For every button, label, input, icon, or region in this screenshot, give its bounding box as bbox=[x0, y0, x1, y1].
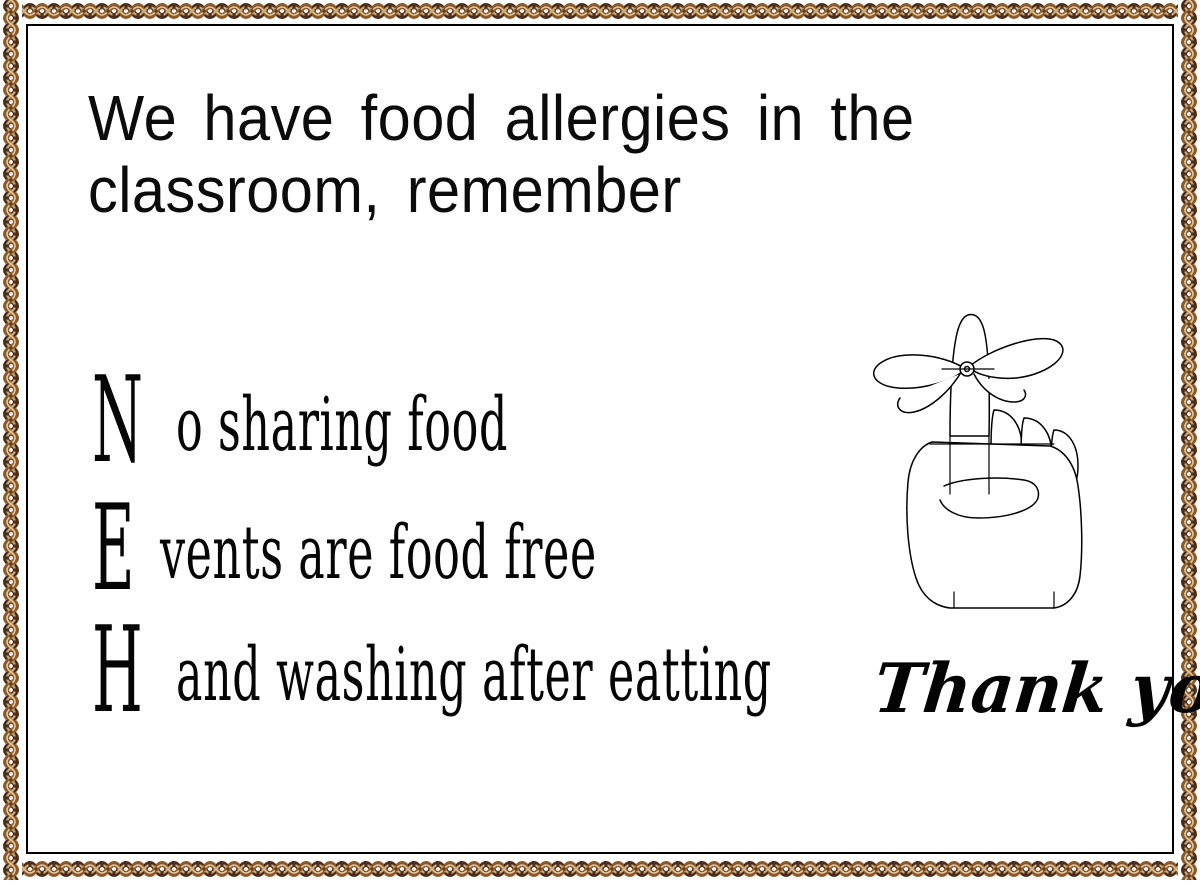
border-top-rope bbox=[0, 0, 1200, 22]
headline-line-1: We have food allergies in the bbox=[88, 82, 1037, 154]
border-left-rope bbox=[0, 0, 22, 880]
rules-acrostic-list: No sharing food Events are food free Han… bbox=[92, 368, 832, 740]
rule-initial-e: E bbox=[92, 489, 135, 608]
hand-with-ribbon-icon bbox=[858, 306, 1098, 612]
rule-text-hand-washing-after-eatting: and washing after eatting bbox=[176, 638, 772, 712]
rule-initial-h: H bbox=[92, 611, 143, 730]
rule-text-no-sharing-food: o sharing food bbox=[176, 388, 508, 462]
page-title: We have food allergies in the classroom,… bbox=[88, 82, 1037, 226]
border-bottom-rope bbox=[0, 858, 1200, 880]
allergy-notice-poster: We have food allergies in the classroom,… bbox=[0, 0, 1200, 880]
rule-item-hand-washing-after-eatting: Hand washing after eatting bbox=[92, 618, 832, 740]
border-right-rope bbox=[1178, 0, 1200, 880]
rule-item-no-sharing-food: No sharing food bbox=[92, 368, 832, 496]
headline-line-2: classroom, remember bbox=[88, 154, 1037, 226]
rule-initial-n: N bbox=[92, 361, 143, 480]
rule-item-events-are-food-free: Events are food free bbox=[92, 496, 832, 618]
thank-you-text: Thank you bbox=[871, 655, 1200, 723]
rule-text-events-are-food-free: vents are food free bbox=[160, 516, 597, 590]
